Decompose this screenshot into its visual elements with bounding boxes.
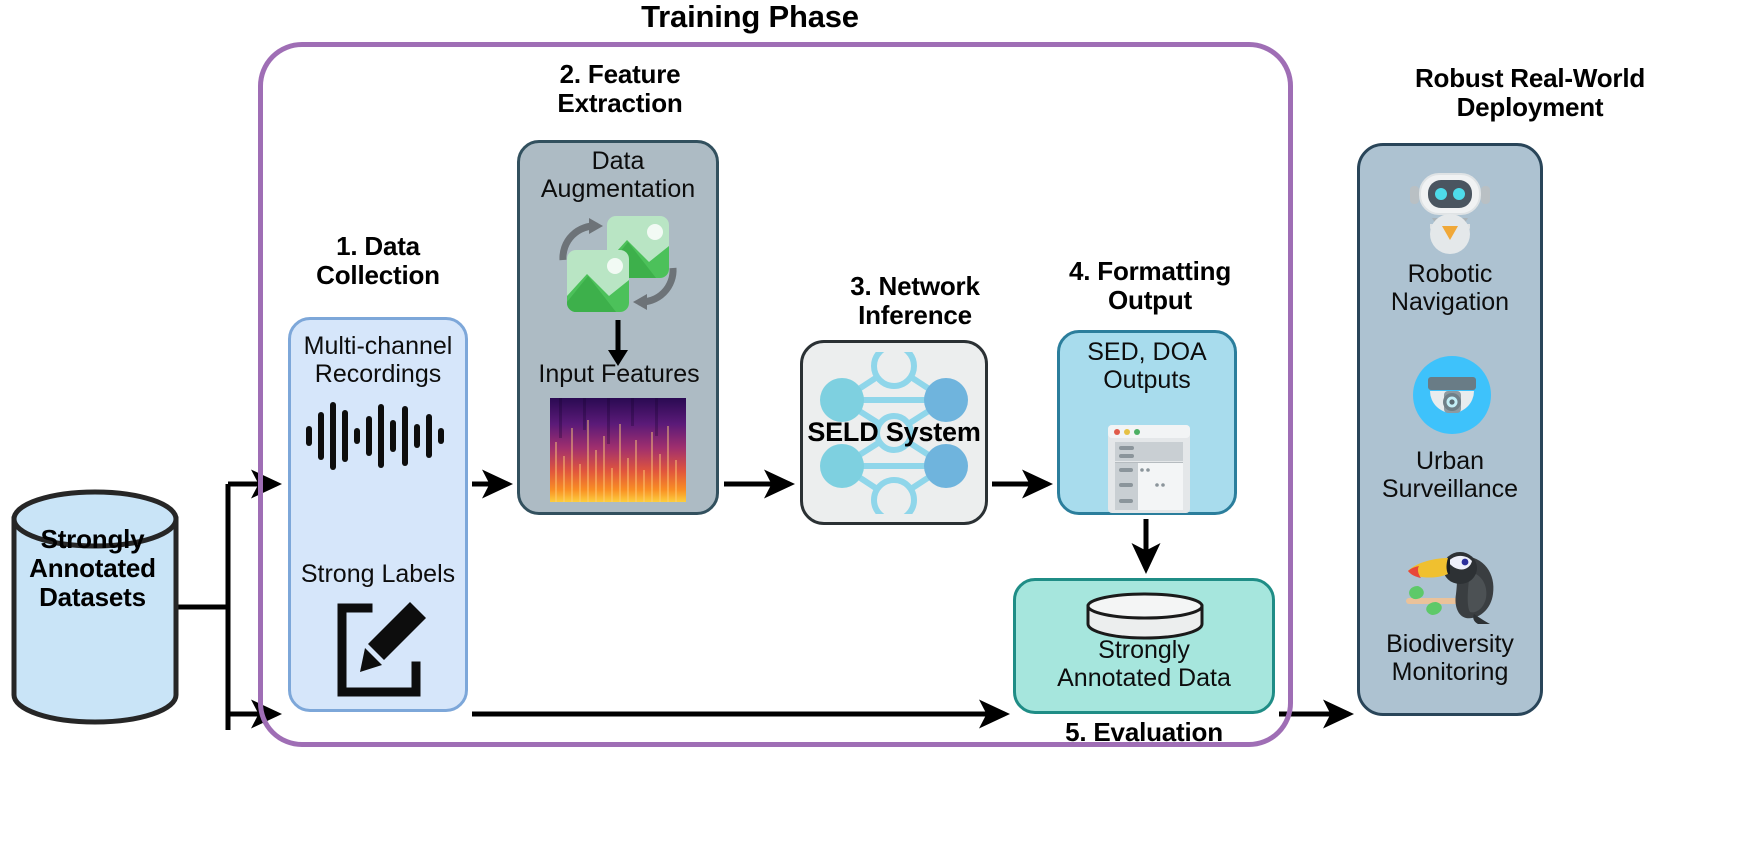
- step-1-title-line2: Collection: [258, 261, 498, 290]
- step-3-title-line2: Inference: [790, 301, 1040, 330]
- step-2-title-line2: Extraction: [490, 89, 750, 118]
- pencil-edit-icon: [330, 600, 430, 700]
- data-augmentation-line2: Augmentation: [520, 175, 716, 203]
- strongly-annotated-data-line1: Strongly: [1015, 636, 1273, 664]
- data-augmentation-line1: Data: [520, 147, 716, 175]
- data-augmentation-label: Data Augmentation: [520, 147, 716, 204]
- strong-labels-line1: Strong Labels: [290, 560, 466, 588]
- biodiversity-monitoring-line1: Biodiversity: [1358, 630, 1542, 658]
- step-2-title-line1: 2. Feature: [490, 60, 750, 89]
- step-5-title: 5. Evaluation: [1013, 718, 1275, 747]
- data-disc-icon: [1084, 592, 1206, 640]
- diagram-canvas: Training Phase Strongly Annotated Datase…: [0, 0, 1750, 855]
- robot-icon: [1408, 168, 1492, 256]
- spectrogram-icon: [550, 398, 686, 502]
- strongly-annotated-data-line2: Annotated Data: [1015, 664, 1273, 692]
- step-1-title-line1: 1. Data: [258, 232, 498, 261]
- step-4-title-line2: Output: [1030, 286, 1270, 315]
- training-phase-title: Training Phase: [540, 0, 960, 35]
- source-label-line1: Strongly: [10, 525, 175, 554]
- security-camera-icon: [1412, 355, 1492, 435]
- biodiversity-monitoring-line2: Monitoring: [1358, 658, 1542, 686]
- deployment-title: Robust Real-World Deployment: [1330, 64, 1730, 122]
- step-4-title-line1: 4. Formatting: [1030, 257, 1270, 286]
- source-datasets-label: Strongly Annotated Datasets: [10, 525, 175, 612]
- source-label-line3: Datasets: [10, 583, 175, 612]
- urban-surveillance-line2: Surveillance: [1358, 475, 1542, 503]
- multi-channel-line1: Multi-channel: [290, 332, 466, 360]
- toucan-bird-icon: [1392, 540, 1510, 626]
- seld-system-label: SELD System: [800, 417, 988, 447]
- table-window-icon: [1108, 425, 1190, 513]
- multi-channel-line2: Recordings: [290, 360, 466, 388]
- urban-surveillance-label: Urban Surveillance: [1358, 447, 1542, 504]
- urban-surveillance-line1: Urban: [1358, 447, 1542, 475]
- robotic-navigation-line2: Navigation: [1358, 288, 1542, 316]
- sed-doa-outputs-label: SED, DOA Outputs: [1059, 338, 1235, 395]
- deployment-title-line1: Robust Real-World: [1330, 64, 1730, 93]
- deployment-title-line2: Deployment: [1330, 93, 1730, 122]
- step-4-title: 4. Formatting Output: [1030, 257, 1270, 315]
- strong-labels-label: Strong Labels: [290, 560, 466, 588]
- step-2-title: 2. Feature Extraction: [490, 60, 750, 118]
- waveform-icon: [300, 400, 460, 472]
- biodiversity-monitoring-label: Biodiversity Monitoring: [1358, 630, 1542, 687]
- source-label-line2: Annotated: [10, 554, 175, 583]
- step-1-title: 1. Data Collection: [258, 232, 498, 290]
- robotic-navigation-line1: Robotic: [1358, 260, 1542, 288]
- multi-channel-recordings-label: Multi-channel Recordings: [290, 332, 466, 389]
- sed-doa-line1: SED, DOA: [1059, 338, 1235, 366]
- input-features-line1: Input Features: [516, 360, 722, 388]
- robotic-navigation-label: Robotic Navigation: [1358, 260, 1542, 317]
- step-3-title: 3. Network Inference: [790, 272, 1040, 330]
- sed-doa-line2: Outputs: [1059, 366, 1235, 394]
- image-augmentation-icon: [553, 210, 683, 320]
- strongly-annotated-data-label: Strongly Annotated Data: [1015, 636, 1273, 693]
- step-3-title-line1: 3. Network: [790, 272, 1040, 301]
- input-features-label: Input Features: [516, 360, 722, 388]
